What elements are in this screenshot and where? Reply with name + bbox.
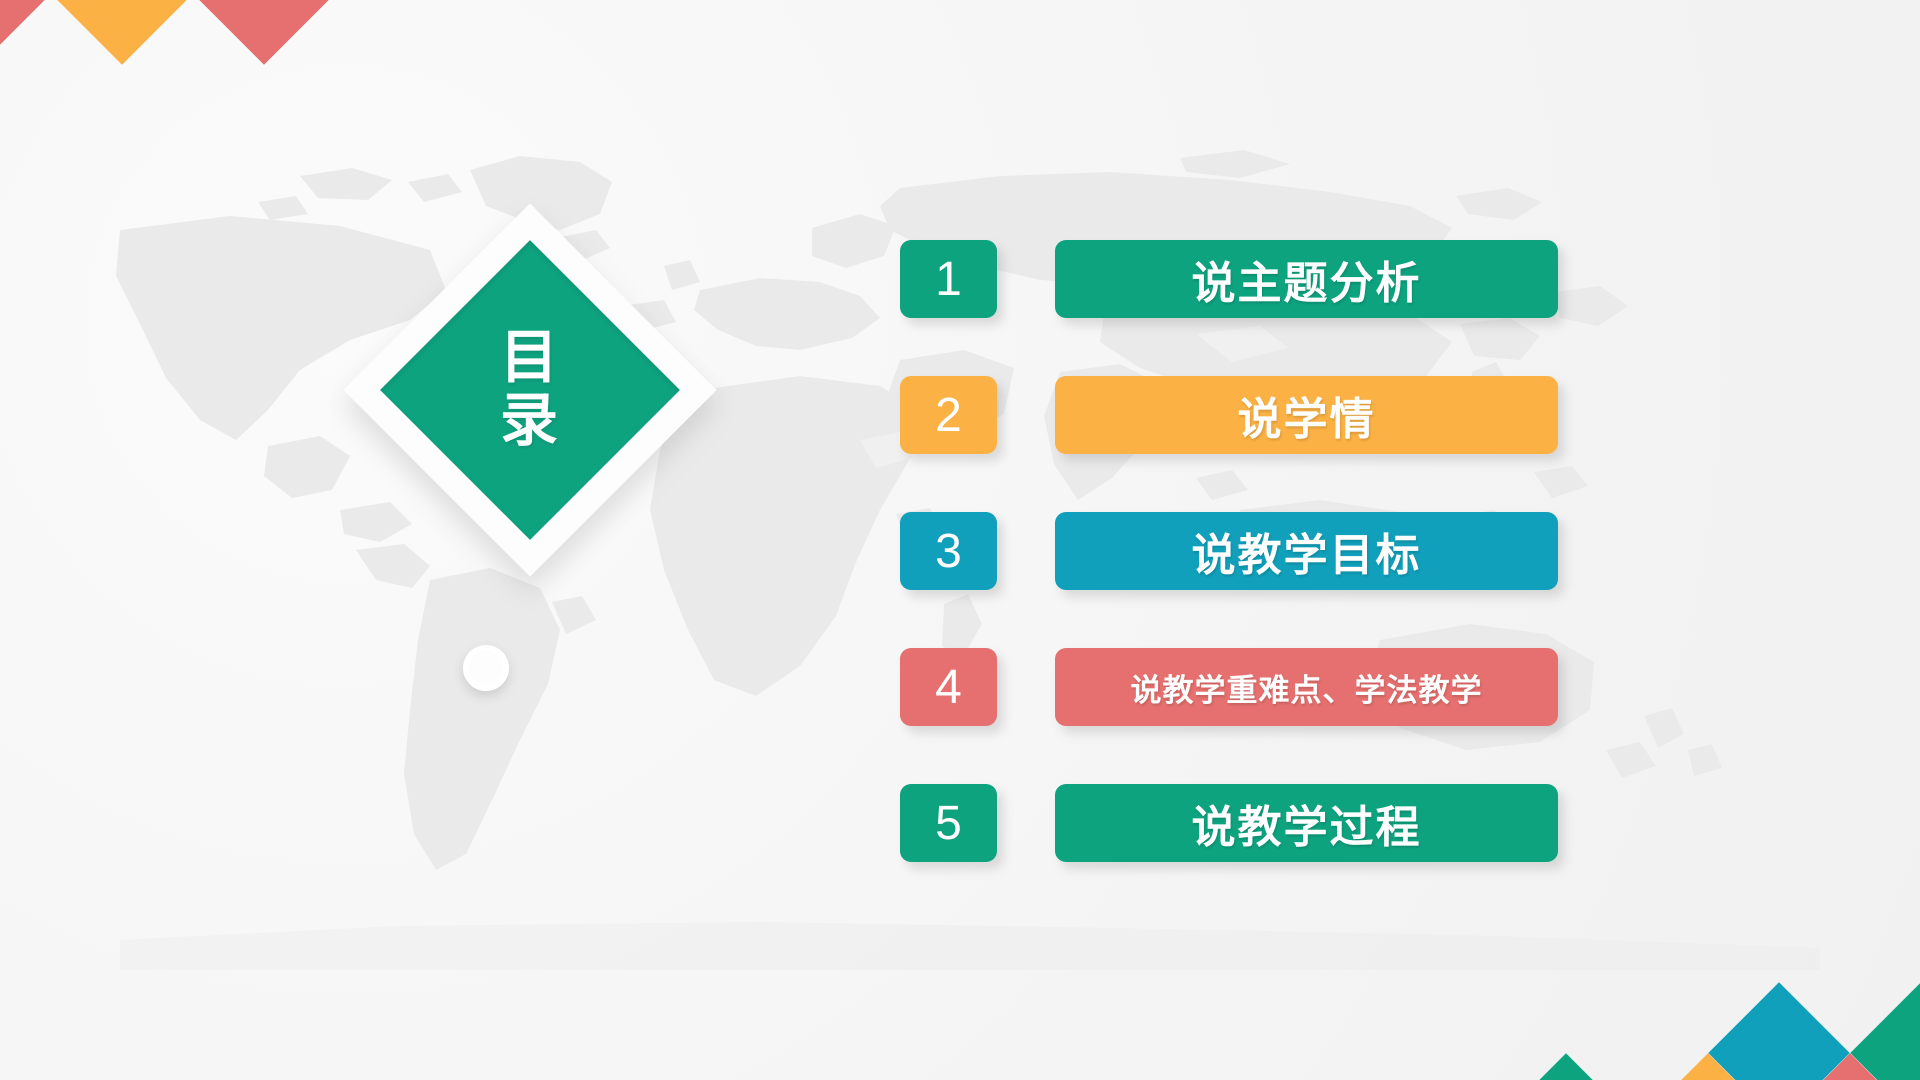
toc-diamond-inner: 目 录 [380, 240, 680, 540]
agenda-label-bar[interactable]: 说学情 [1055, 376, 1558, 454]
list-item[interactable]: 5 说教学过程 [900, 784, 1600, 862]
agenda-label-text: 说主题分析 [1192, 247, 1422, 311]
toc-title-block: 目 录 [424, 284, 636, 496]
toc-title-char-2: 录 [500, 390, 560, 453]
diamond-red-icon [193, 0, 334, 65]
agenda-label-text: 说教学重难点、学法教学 [1131, 665, 1483, 710]
agenda-label-text: 说教学目标 [1192, 519, 1422, 583]
agenda-number-badge[interactable]: 1 [900, 240, 997, 318]
agenda-number-badge[interactable]: 2 [900, 376, 997, 454]
diamond-orange-icon [51, 0, 192, 65]
agenda-label-bar[interactable]: 说教学目标 [1055, 512, 1558, 590]
list-item[interactable]: 1 说主题分析 [900, 240, 1600, 318]
agenda-slide: 目 录 1 说主题分析 2 说学情 3 说教学目标 [0, 0, 1920, 1080]
agenda-number-badge[interactable]: 3 [900, 512, 997, 590]
list-item[interactable]: 2 说学情 [900, 376, 1600, 454]
agenda-label-bar[interactable]: 说教学过程 [1055, 784, 1558, 862]
agenda-list: 1 说主题分析 2 说学情 3 说教学目标 4 说教学重难点、学法教学 [900, 240, 1600, 862]
list-item[interactable]: 4 说教学重难点、学法教学 [900, 648, 1600, 726]
diamond-red-icon [0, 0, 51, 65]
agenda-number-badge[interactable]: 5 [900, 784, 997, 862]
agenda-label-bar[interactable]: 说教学重难点、学法教学 [1055, 648, 1558, 726]
agenda-label-bar[interactable]: 说主题分析 [1055, 240, 1558, 318]
list-item[interactable]: 3 说教学目标 [900, 512, 1600, 590]
diamond-green-icon [1495, 1053, 1636, 1080]
agenda-number-badge[interactable]: 4 [900, 648, 997, 726]
decoration-bottom-right [1516, 942, 1920, 1080]
agenda-label-text: 说教学过程 [1192, 791, 1422, 855]
map-pin-ring-icon [463, 645, 509, 691]
diamond-cyan-icon [1708, 982, 1849, 1080]
toc-title-char-1: 目 [500, 327, 560, 390]
agenda-label-text: 说学情 [1238, 383, 1376, 447]
decoration-top-left [0, 0, 350, 112]
